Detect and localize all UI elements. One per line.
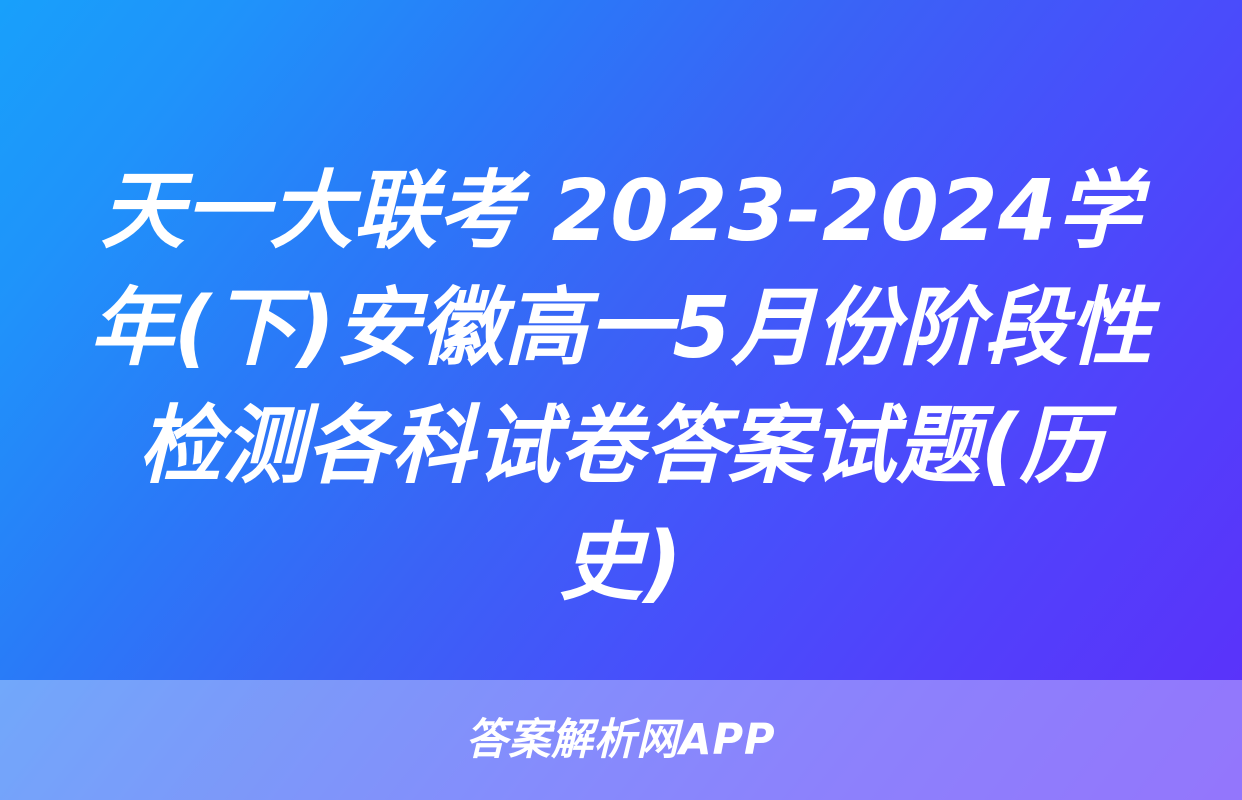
page-title: 天一大联考 2023-2024学年(下)安徽高一5月份阶段性检测各科试卷答案试题… [9, 153, 1232, 622]
app-watermark-label: 答案解析网APP [466, 719, 776, 762]
footer-watermark-band: 答案解析网APP [0, 680, 1242, 800]
exam-answer-banner-card: 天一大联考 2023-2024学年(下)安徽高一5月份阶段性检测各科试卷答案试题… [0, 0, 1242, 800]
